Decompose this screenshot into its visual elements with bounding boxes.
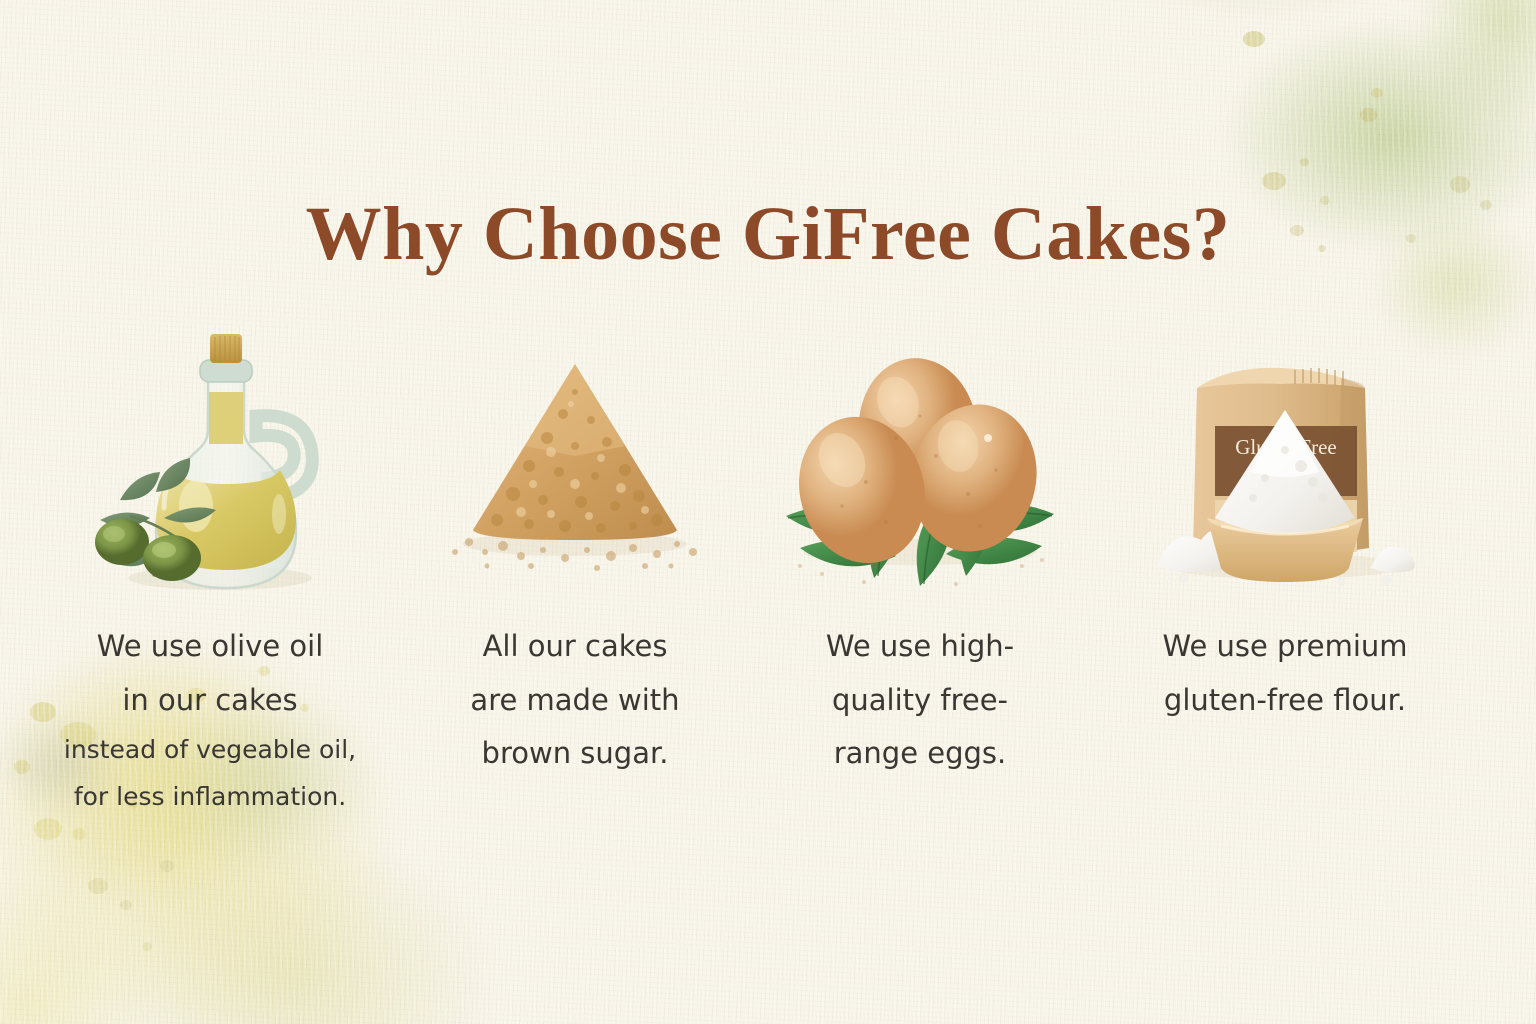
caption-line: instead of vegeable oil, [36, 727, 384, 773]
feature-column-eggs[interactable]: We use high- quality free- range eggs. [740, 330, 1100, 781]
olive-oil-illustration [30, 330, 390, 620]
eggs-illustration [740, 330, 1100, 620]
caption-line: gluten-free flour. [1111, 674, 1459, 728]
caption-line: for less inflammation. [36, 774, 384, 820]
page-title: Why Choose GiFree Cakes? [0, 191, 1536, 278]
caption-line: We use premium [1111, 620, 1459, 674]
features-row: We use olive oil in our cakes instead of… [0, 330, 1536, 890]
brown-sugar-illustration [395, 330, 755, 620]
caption-line: We use olive oil [36, 620, 384, 674]
feature-caption-brown-sugar: All our cakes are made with brown sugar. [395, 620, 755, 781]
feature-column-brown-sugar[interactable]: All our cakes are made with brown sugar. [395, 330, 755, 781]
feature-caption-eggs: We use high- quality free- range eggs. [740, 620, 1100, 781]
poster-canvas: Why Choose GiFree Cakes? [0, 0, 1536, 1024]
caption-line: brown sugar. [401, 727, 749, 781]
flour-illustration: Gluten-Free Flue $00 [1105, 330, 1465, 620]
feature-caption-flour: We use premium gluten-free flour. [1105, 620, 1465, 727]
feature-column-flour[interactable]: Gluten-Free Flue $00 [1105, 330, 1465, 727]
caption-line: in our cakes [36, 674, 384, 728]
caption-line: We use high- [746, 620, 1094, 674]
feature-caption-olive-oil: We use olive oil in our cakes instead of… [30, 620, 390, 820]
caption-line: All our cakes [401, 620, 749, 674]
caption-line: quality free- [746, 674, 1094, 728]
feature-column-olive-oil[interactable]: We use olive oil in our cakes instead of… [30, 330, 390, 820]
caption-line: range eggs. [746, 727, 1094, 781]
caption-line: are made with [401, 674, 749, 728]
